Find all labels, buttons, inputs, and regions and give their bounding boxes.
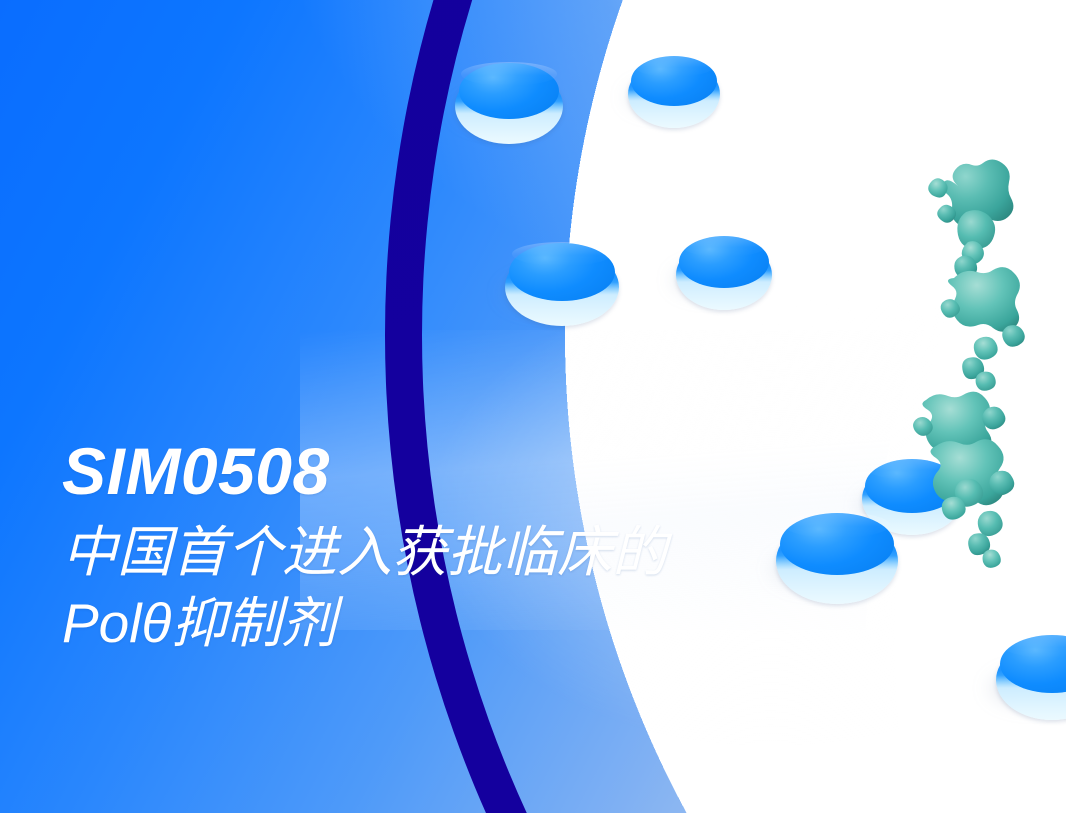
tablet-rim-highlight [512,242,612,266]
tablet-pill [505,238,623,330]
tablet-pill [676,232,776,314]
tablet-pill [455,58,567,146]
page-title: SIM0508 [62,438,667,505]
tablet-rim-highlight [682,235,766,257]
headline-text-block: SIM0508 中国首个进入获批临床的 Polθ抑制剂 [62,438,667,658]
tablet-rim-highlight [634,55,714,77]
tablet-rim-highlight [784,512,890,538]
subtitle-line-1: 中国首个进入获批临床的 [62,517,667,587]
tablet-rim-highlight [461,62,557,86]
subtitle-line-2: Polθ抑制剂 [62,588,667,658]
tablet-pill [996,630,1066,724]
promotional-poster: SIM0508 中国首个进入获批临床的 Polθ抑制剂 [0,0,1066,813]
tablet-pill [776,508,902,608]
tablet-pill [628,52,724,132]
tablet-rim-highlight [868,458,956,480]
